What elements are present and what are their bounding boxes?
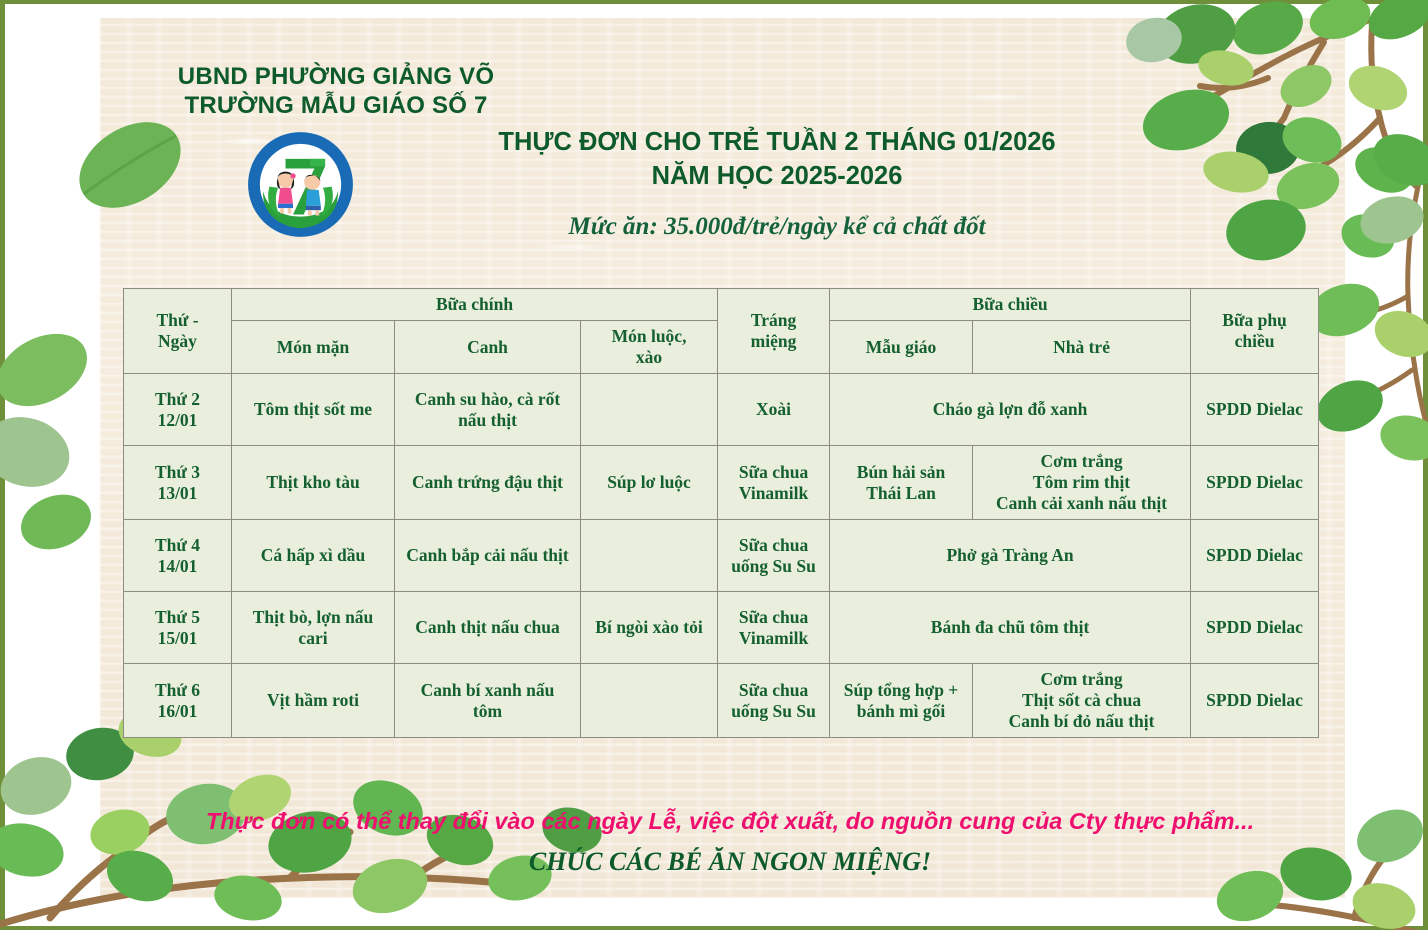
cell-salty: Tôm thịt sốt me xyxy=(232,374,395,446)
cell-snack: SPDD Dielac xyxy=(1191,446,1319,520)
cell-salty: Thịt bò, lợn nấu cari xyxy=(232,592,395,664)
header-main-soup: Canh xyxy=(395,321,581,374)
table-header-row-1: Thứ - Ngày Bữa chính Tráng miệng Bữa chi… xyxy=(124,289,1319,321)
header-afternoon-nursery: Nhà trẻ xyxy=(973,321,1191,374)
header-main-meal: Bữa chính xyxy=(232,289,718,321)
menu-change-note: Thực đơn có thể thay đổi vào các ngày Lễ… xyxy=(140,808,1320,835)
border-bottom xyxy=(0,926,1428,930)
weekly-menu-table: Thứ - Ngày Bữa chính Tráng miệng Bữa chi… xyxy=(123,288,1319,738)
cell-afternoon-merged: Bánh đa chũ tôm thịt xyxy=(830,592,1191,664)
menu-poster: UBND PHƯỜNG GIẢNG VÕ TRƯỜNG MẪU GIÁO SỐ … xyxy=(0,0,1428,930)
cell-nursery: Cơm trắng Thịt sốt cà chua Canh bí đỏ nấ… xyxy=(973,664,1191,738)
table-row: Thứ 3 13/01 Thịt kho tàu Canh trứng đậu … xyxy=(124,446,1319,520)
cell-soup: Canh trứng đậu thịt xyxy=(395,446,581,520)
header-main-salty: Món mặn xyxy=(232,321,395,374)
cell-boiled xyxy=(581,664,718,738)
cell-dessert: Xoài xyxy=(718,374,830,446)
cell-day: Thứ 5 15/01 xyxy=(124,592,232,664)
header-extra-snack: Bữa phụ chiều xyxy=(1191,289,1319,374)
cell-kindergarten: Bún hải sản Thái Lan xyxy=(830,446,973,520)
page-title: THỰC ĐƠN CHO TRẺ TUẦN 2 THÁNG 01/2026 NĂ… xyxy=(432,126,1122,194)
cell-dessert: Sữa chua Vinamilk xyxy=(718,446,830,520)
table-row: Thứ 2 12/01 Tôm thịt sốt me Canh su hào,… xyxy=(124,374,1319,446)
cell-dessert: Sữa chua uống Su Su xyxy=(718,520,830,592)
cell-day: Thứ 3 13/01 xyxy=(124,446,232,520)
cell-boiled: Bí ngòi xào tỏi xyxy=(581,592,718,664)
cell-afternoon-merged: Phở gà Tràng An xyxy=(830,520,1191,592)
school-logo-icon: TRƯỜNG MẪU GIÁO SỐ 7 xyxy=(247,131,354,238)
header-day: Thứ - Ngày xyxy=(124,289,232,374)
border-left xyxy=(0,0,5,930)
cell-day: Thứ 4 14/01 xyxy=(124,520,232,592)
border-top xyxy=(0,0,1428,4)
organization-heading: UBND PHƯỜNG GIẢNG VÕ TRƯỜNG MẪU GIÁO SỐ … xyxy=(146,62,526,121)
header-dessert: Tráng miệng xyxy=(718,289,830,374)
cell-afternoon-merged: Cháo gà lợn đỗ xanh xyxy=(830,374,1191,446)
wish-text: CHÚC CÁC BÉ ĂN NGON MIỆNG! xyxy=(140,847,1320,877)
cell-soup: Canh su hào, cà rốt nấu thịt xyxy=(395,374,581,446)
cell-snack: SPDD Dielac xyxy=(1191,664,1319,738)
meal-rate-text: Mức ăn: 35.000đ/trẻ/ngày kể cả chất đốt xyxy=(432,213,1122,241)
table-row: Thứ 6 16/01 Vịt hầm roti Canh bí xanh nấ… xyxy=(124,664,1319,738)
cell-dessert: Sữa chua uống Su Su xyxy=(718,664,830,738)
cell-snack: SPDD Dielac xyxy=(1191,592,1319,664)
cell-day: Thứ 2 12/01 xyxy=(124,374,232,446)
cell-dessert: Sữa chua Vinamilk xyxy=(718,592,830,664)
table-row: Thứ 5 15/01 Thịt bò, lợn nấu cari Canh t… xyxy=(124,592,1319,664)
cell-nursery: Cơm trắng Tôm rim thịt Canh cải xanh nấu… xyxy=(973,446,1191,520)
cell-soup: Canh thịt nấu chua xyxy=(395,592,581,664)
header-main-boiled: Món luộc, xào xyxy=(581,321,718,374)
cell-kindergarten: Súp tổng hợp + bánh mì gối xyxy=(830,664,973,738)
header-afternoon-kindergarten: Mẫu giáo xyxy=(830,321,973,374)
cell-boiled: Súp lơ luộc xyxy=(581,446,718,520)
cell-salty: Cá hấp xì dầu xyxy=(232,520,395,592)
cell-salty: Vịt hầm roti xyxy=(232,664,395,738)
table-row: Thứ 4 14/01 Cá hấp xì dầu Canh bắp cải n… xyxy=(124,520,1319,592)
cell-soup: Canh bắp cải nấu thịt xyxy=(395,520,581,592)
cell-snack: SPDD Dielac xyxy=(1191,374,1319,446)
cell-boiled xyxy=(581,374,718,446)
border-right xyxy=(1423,0,1428,930)
cell-boiled xyxy=(581,520,718,592)
cell-soup: Canh bí xanh nấu tôm xyxy=(395,664,581,738)
header-afternoon-meal: Bữa chiều xyxy=(830,289,1191,321)
cell-snack: SPDD Dielac xyxy=(1191,520,1319,592)
cell-salty: Thịt kho tàu xyxy=(232,446,395,520)
cell-day: Thứ 6 16/01 xyxy=(124,664,232,738)
